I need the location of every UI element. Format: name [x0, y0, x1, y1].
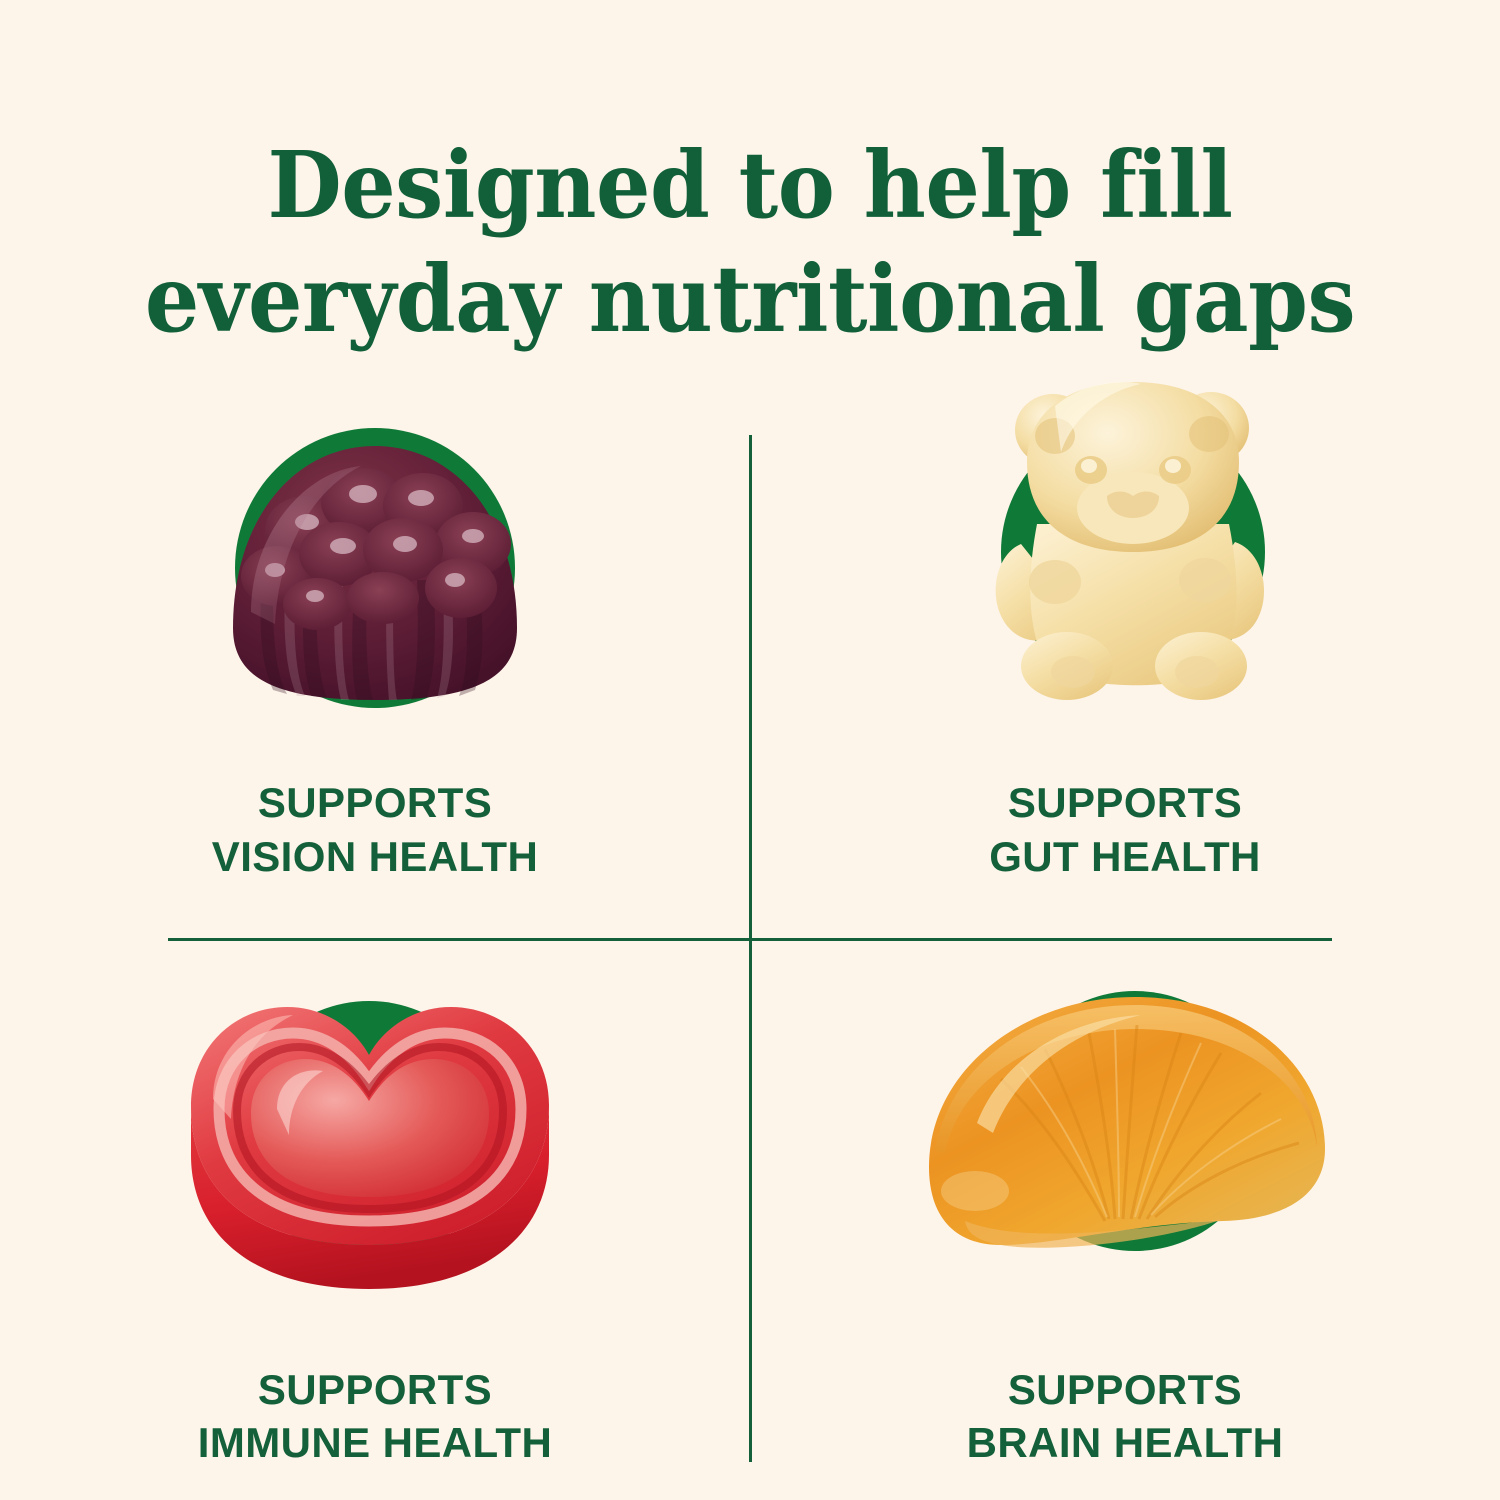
caption-line-1: SUPPORTS	[212, 776, 538, 830]
page-title-line-1: Designed to help fill	[53, 128, 1448, 242]
benefit-caption-gut: SUPPORTS GUT HEALTH	[989, 776, 1261, 884]
caption-line-2: BRAIN HEALTH	[967, 1416, 1284, 1470]
benefits-grid: SUPPORTS VISION HEALTH	[0, 380, 1500, 1470]
caption-line-1: SUPPORTS	[967, 1363, 1284, 1417]
orange-slice-gummy-icon	[905, 953, 1345, 1303]
bear-gummy-icon	[905, 366, 1345, 716]
caption-line-1: SUPPORTS	[198, 1363, 552, 1417]
benefit-cell-vision: SUPPORTS VISION HEALTH	[0, 380, 750, 923]
page-title: Designed to help fill everyday nutrition…	[53, 128, 1448, 356]
caption-line-1: SUPPORTS	[989, 776, 1261, 830]
bear-gummy-art	[905, 366, 1345, 716]
heart-gummy-icon	[155, 959, 595, 1309]
heart-gummy-art	[155, 959, 595, 1309]
caption-line-2: IMMUNE HEALTH	[198, 1416, 552, 1470]
berry-gummy-art	[155, 398, 595, 748]
benefit-caption-vision: SUPPORTS VISION HEALTH	[212, 776, 538, 884]
benefit-cell-brain: SUPPORTS BRAIN HEALTH	[750, 923, 1500, 1471]
page-title-line-2: everyday nutritional gaps	[53, 242, 1448, 356]
benefit-cell-immune: SUPPORTS IMMUNE HEALTH	[0, 923, 750, 1471]
benefit-caption-brain: SUPPORTS BRAIN HEALTH	[967, 1363, 1284, 1471]
benefit-caption-immune: SUPPORTS IMMUNE HEALTH	[198, 1363, 552, 1471]
caption-line-2: VISION HEALTH	[212, 830, 538, 884]
benefit-cell-gut: SUPPORTS GUT HEALTH	[750, 380, 1500, 923]
berry-gummy-icon	[155, 398, 595, 748]
caption-line-2: GUT HEALTH	[989, 830, 1261, 884]
orange-slice-gummy-art	[905, 953, 1345, 1303]
promo-graphic: Designed to help fill everyday nutrition…	[0, 0, 1500, 1500]
